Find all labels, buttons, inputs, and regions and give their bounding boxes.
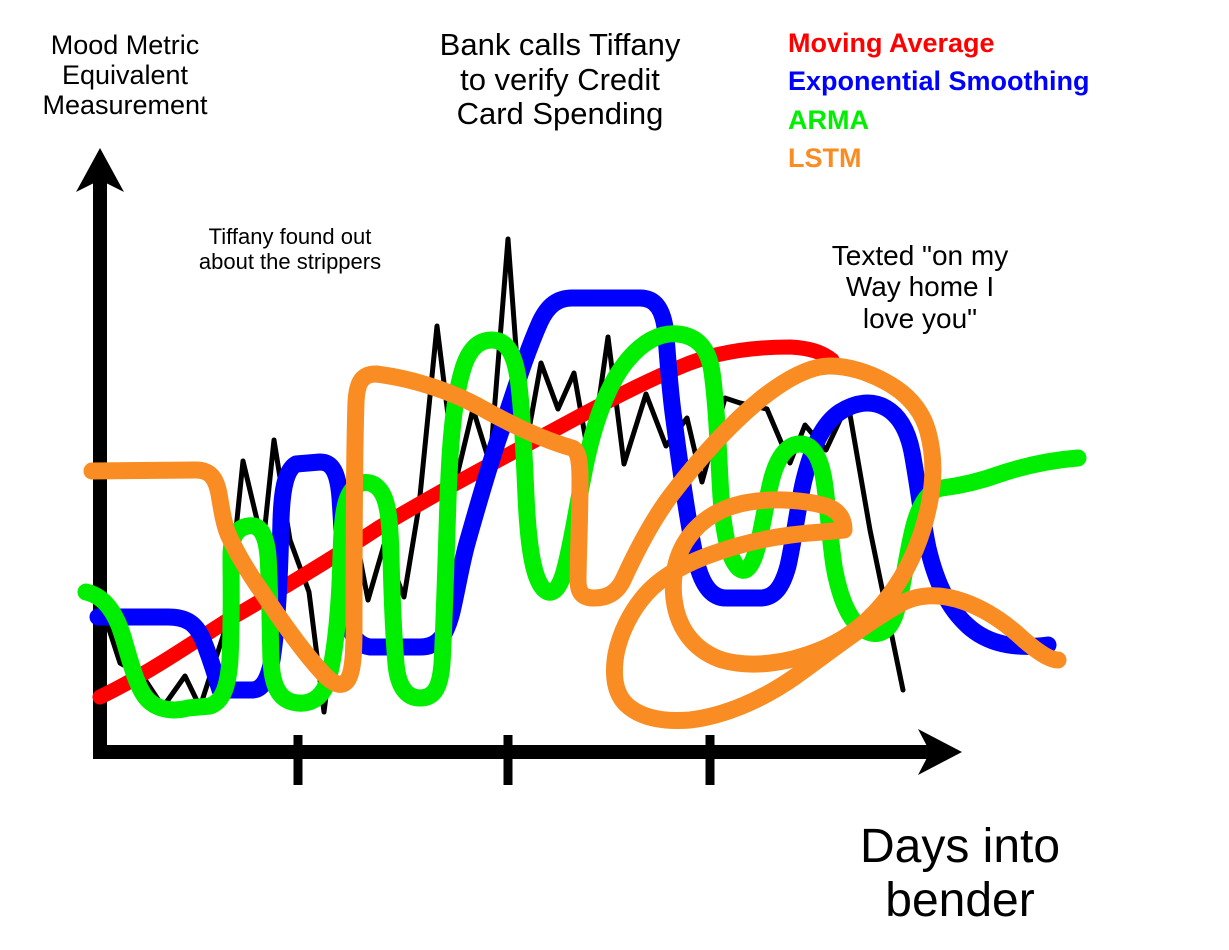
annotation-tiffany-found-out: Tiffany found out about the strippers xyxy=(150,225,430,274)
chart-canvas: Mood Metric Equivalent Measurement Bank … xyxy=(0,0,1229,950)
x-axis-label: Days into bender xyxy=(770,820,1150,928)
y-axis-label: Mood Metric Equivalent Measurement xyxy=(10,30,240,121)
legend-item-lstm: LSTM xyxy=(788,139,1090,177)
annotation-texted-on-my-way: Texted "on my Way home I love you" xyxy=(775,240,1065,334)
chart-legend: Moving Average Exponential Smoothing ARM… xyxy=(788,24,1090,177)
legend-item-arma: ARMA xyxy=(788,101,1090,139)
legend-item-moving-average: Moving Average xyxy=(788,24,1090,62)
annotation-bank-calls: Bank calls Tiffany to verify Credit Card… xyxy=(380,28,740,132)
legend-item-exponential-smoothing: Exponential Smoothing xyxy=(788,62,1090,100)
